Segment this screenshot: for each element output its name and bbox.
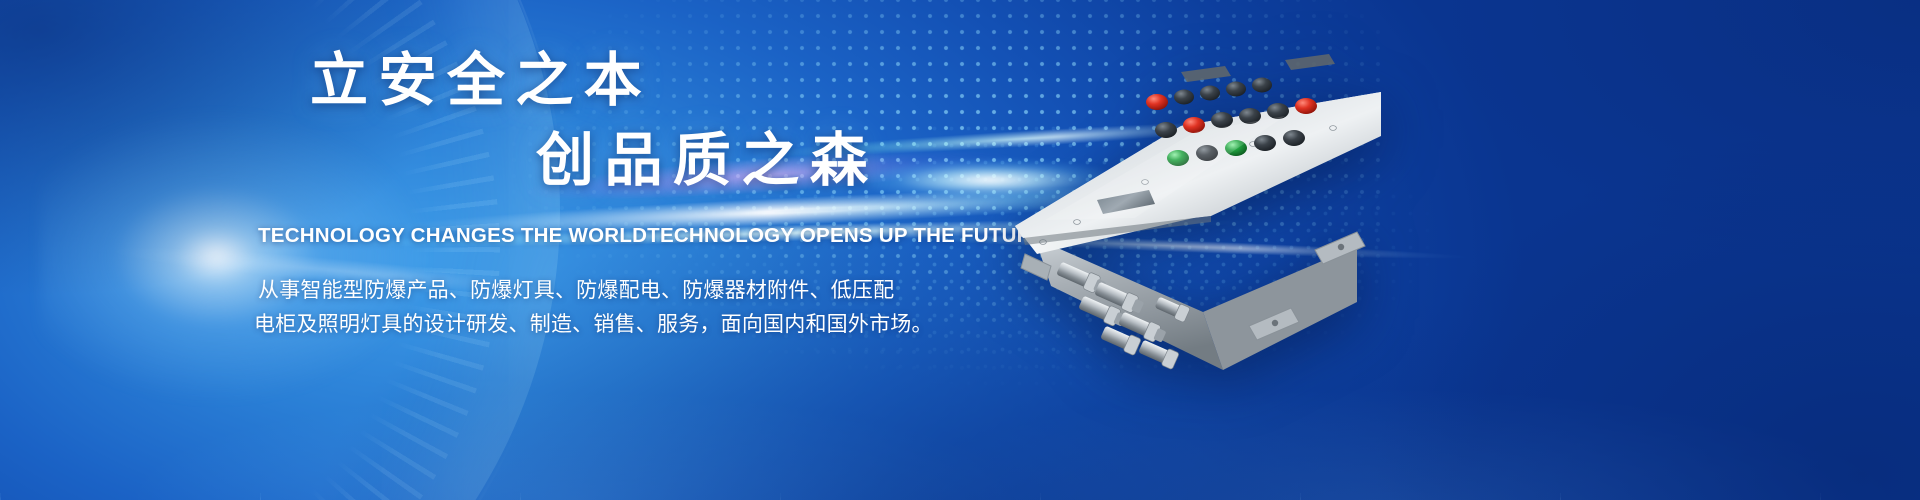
lid-handle-slot-left [1181, 66, 1231, 82]
product-image-explosion-proof-control-box [985, 40, 1405, 400]
headline-line-1: 立安全之本 [310, 52, 938, 110]
indicator-row-1 [1146, 78, 1272, 111]
body-line-2: 电柜及照明灯具的设计研发、制造、销售、服务，面向国内和国外市场。 [254, 308, 938, 342]
english-tagline: TECHNOLOGY CHANGES THE WORLDTECHNOLOGY O… [258, 224, 938, 248]
lid-handle-slot-right [1285, 54, 1335, 70]
headline-line-2: 创品质之森 [536, 132, 938, 190]
banner-copy: 立安全之本 创品质之森 TECHNOLOGY CHANGES THE WORLD… [258, 52, 938, 342]
hero-banner: 立安全之本 创品质之森 TECHNOLOGY CHANGES THE WORLD… [0, 0, 1920, 500]
body-description: 从事智能型防爆产品、防爆灯具、防爆配电、防爆器材附件、低压配 电柜及照明灯具的设… [258, 274, 938, 342]
body-line-1: 从事智能型防爆产品、防爆灯具、防爆配电、防爆器材附件、低压配 [258, 274, 938, 308]
